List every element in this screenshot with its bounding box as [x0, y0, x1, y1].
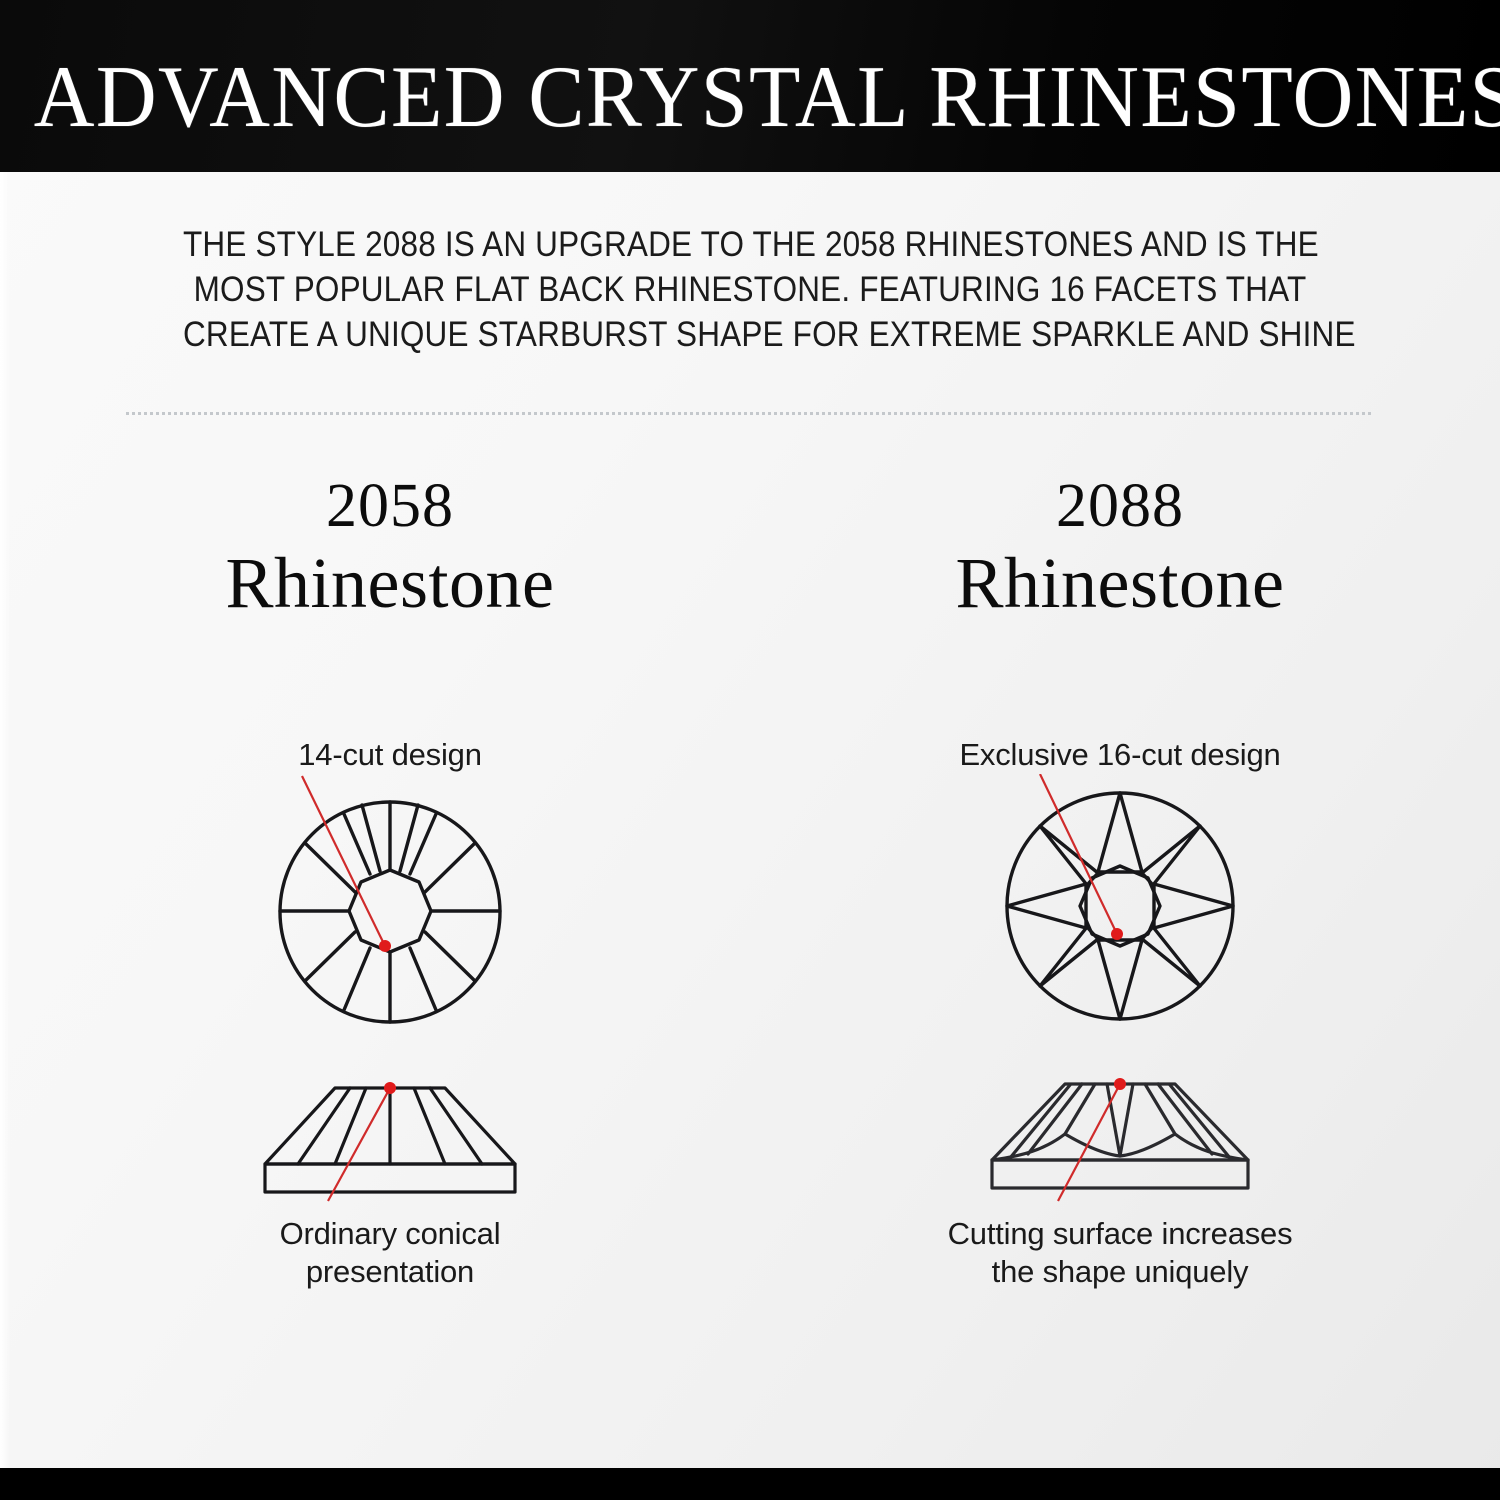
star-spike-icon [1098, 793, 1142, 872]
caption-line-2: the shape uniquely [810, 1253, 1430, 1291]
caption-line-1: Ordinary conical [80, 1215, 700, 1253]
rhinestone-2088-top-label: Exclusive 16-cut design [810, 736, 1430, 774]
star-spike-icon [1098, 940, 1142, 1019]
center-notch-icon [1107, 1084, 1133, 1156]
rhinestone-2088-top-view [970, 774, 1270, 1024]
column-2058-number: 2058 [80, 470, 700, 542]
header-band: ADVANCED CRYSTAL RHINESTONES [0, 0, 1500, 172]
footer-band [0, 1468, 1500, 1500]
dotted-divider [126, 412, 1374, 415]
center-marker-icon [379, 940, 391, 952]
page-title: ADVANCED CRYSTAL RHINESTONES [34, 50, 1467, 146]
rhinestone-2058-top-block: 14-cut design [80, 736, 700, 1024]
column-2058-heading: 2058 Rhinestone [80, 470, 700, 624]
base-slab-icon [265, 1164, 515, 1192]
intro-line-1: THE STYLE 2088 IS AN UPGRADE TO THE 2058… [183, 222, 1317, 267]
column-2088-number: 2088 [810, 470, 1430, 542]
column-2088-heading: 2088 Rhinestone [810, 470, 1430, 624]
star-spike-icon [1007, 884, 1086, 928]
intro-paragraph: THE STYLE 2088 IS AN UPGRADE TO THE 2058… [183, 222, 1317, 357]
star-spike-icon [1154, 884, 1233, 928]
apex-marker-icon [384, 1082, 396, 1094]
rhinestone-2058-side-block: Ordinary conical presentation [80, 1068, 700, 1291]
star-spike-icon [1142, 927, 1200, 986]
rhinestone-2058-top-view [240, 774, 540, 1024]
caption-line-1: Cutting surface increases [810, 1215, 1430, 1253]
rhinestone-2088-side-view [970, 1068, 1270, 1203]
intro-line-2: MOST POPULAR FLAT BACK RHINESTONE. FEATU… [183, 267, 1317, 312]
rhinestone-2088-side-caption: Cutting surface increases the shape uniq… [810, 1215, 1430, 1291]
caption-line-2: presentation [80, 1253, 700, 1291]
left-edge-fade [0, 172, 10, 1468]
base-slab-icon [992, 1160, 1248, 1188]
column-2088-word: Rhinestone [810, 542, 1430, 624]
rhinestone-2058-side-caption: Ordinary conical presentation [80, 1215, 700, 1291]
column-2058: 2058 Rhinestone 14-cut design [80, 470, 700, 1291]
rhinestone-2058-top-label: 14-cut design [80, 736, 700, 774]
intro-line-3: CREATE A UNIQUE STARBURST SHAPE FOR EXTR… [183, 312, 1317, 357]
infographic-page: ADVANCED CRYSTAL RHINESTONES THE STYLE 2… [0, 0, 1500, 1500]
table-octagon-icon [349, 870, 431, 952]
leader-line-icon [1040, 774, 1117, 934]
star-spike-icon [1142, 826, 1200, 885]
rhinestone-2088-top-block: Exclusive 16-cut design [810, 736, 1430, 1024]
column-2088: 2088 Rhinestone Exclusive 16-cut design [810, 470, 1430, 1291]
apex-marker-icon [1114, 1078, 1126, 1090]
column-2058-word: Rhinestone [80, 542, 700, 624]
leader-line-icon [302, 776, 385, 946]
rhinestone-2058-side-view [240, 1068, 540, 1203]
star-spike-icon [1040, 927, 1098, 986]
center-marker-icon [1111, 928, 1123, 940]
rhinestone-2088-side-block: Cutting surface increases the shape uniq… [810, 1068, 1430, 1291]
